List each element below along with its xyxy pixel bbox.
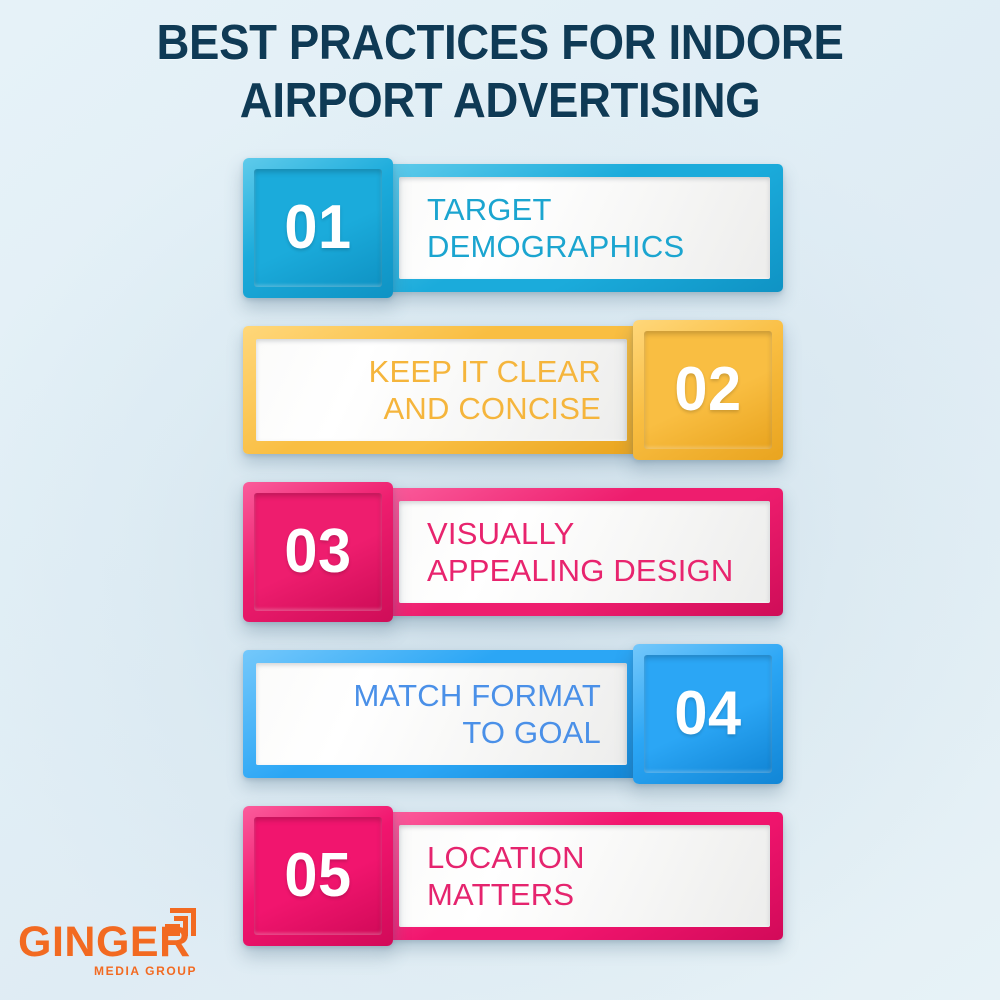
card-text-panel: KEEP IT CLEARAND CONCISE — [256, 339, 627, 441]
card-label-line-1: LOCATION — [427, 839, 748, 876]
card-text-panel: MATCH FORMATTO GOAL — [256, 663, 627, 765]
card-number-face: 02 — [644, 331, 772, 449]
card-number-frame: 04 — [633, 644, 783, 784]
title-line-1: BEST PRACTICES FOR INDORE — [35, 14, 965, 72]
card-number-face: 04 — [644, 655, 772, 773]
logo-tagline: MEDIA GROUP — [94, 965, 197, 978]
card-text-frame: LOCATIONMATTERS — [386, 812, 783, 940]
card-label: VISUALLYAPPEALING DESIGN — [399, 515, 770, 589]
card-label: MATCH FORMATTO GOAL — [256, 677, 627, 751]
card-number: 03 — [284, 521, 351, 583]
card-number-face: 03 — [254, 493, 382, 611]
card-label-line-2: MATTERS — [427, 876, 748, 913]
card-label-line-2: APPEALING DESIGN — [427, 552, 748, 589]
title-line-2: AIRPORT ADVERTISING — [35, 72, 965, 130]
card-label: KEEP IT CLEARAND CONCISE — [256, 353, 627, 427]
card-text-frame: KEEP IT CLEARAND CONCISE — [243, 326, 640, 454]
card-label-line-1: TARGET — [427, 191, 748, 228]
infographic-poster: BEST PRACTICES FOR INDORE AIRPORT ADVERT… — [0, 0, 1000, 1000]
card-number-frame: 03 — [243, 482, 393, 622]
card-label: LOCATIONMATTERS — [399, 839, 770, 913]
card-text-frame: VISUALLYAPPEALING DESIGN — [386, 488, 783, 616]
card-label-line-1: KEEP IT CLEAR — [278, 353, 601, 390]
card-label: TARGETDEMOGRAPHICS — [399, 191, 770, 265]
card-number: 05 — [284, 845, 351, 907]
card-label-line-1: VISUALLY — [427, 515, 748, 552]
card-text-frame: MATCH FORMATTO GOAL — [243, 650, 640, 778]
card-number-face: 01 — [254, 169, 382, 287]
practice-card: KEEP IT CLEARAND CONCISE02 — [243, 320, 783, 460]
card-label-line-1: MATCH FORMAT — [278, 677, 601, 714]
card-label-line-2: DEMOGRAPHICS — [427, 228, 748, 265]
card-number: 04 — [674, 683, 741, 745]
brand-logo: GINGER MEDIA GROUP — [16, 904, 231, 982]
page-title: BEST PRACTICES FOR INDORE AIRPORT ADVERT… — [0, 14, 1000, 130]
practice-card-list: TARGETDEMOGRAPHICS01KEEP IT CLEARAND CON… — [243, 158, 783, 968]
nested-squares-icon — [162, 906, 198, 938]
card-number-face: 05 — [254, 817, 382, 935]
card-label-line-2: TO GOAL — [278, 714, 601, 751]
practice-card: VISUALLYAPPEALING DESIGN03 — [243, 482, 783, 622]
card-number: 02 — [674, 359, 741, 421]
practice-card: TARGETDEMOGRAPHICS01 — [243, 158, 783, 298]
practice-card: MATCH FORMATTO GOAL04 — [243, 644, 783, 784]
card-number-frame: 05 — [243, 806, 393, 946]
card-number-frame: 01 — [243, 158, 393, 298]
card-label-line-2: AND CONCISE — [278, 390, 601, 427]
card-text-panel: TARGETDEMOGRAPHICS — [399, 177, 770, 279]
card-text-frame: TARGETDEMOGRAPHICS — [386, 164, 783, 292]
card-text-panel: LOCATIONMATTERS — [399, 825, 770, 927]
card-number: 01 — [284, 197, 351, 259]
card-text-panel: VISUALLYAPPEALING DESIGN — [399, 501, 770, 603]
card-number-frame: 02 — [633, 320, 783, 460]
practice-card: LOCATIONMATTERS05 — [243, 806, 783, 946]
